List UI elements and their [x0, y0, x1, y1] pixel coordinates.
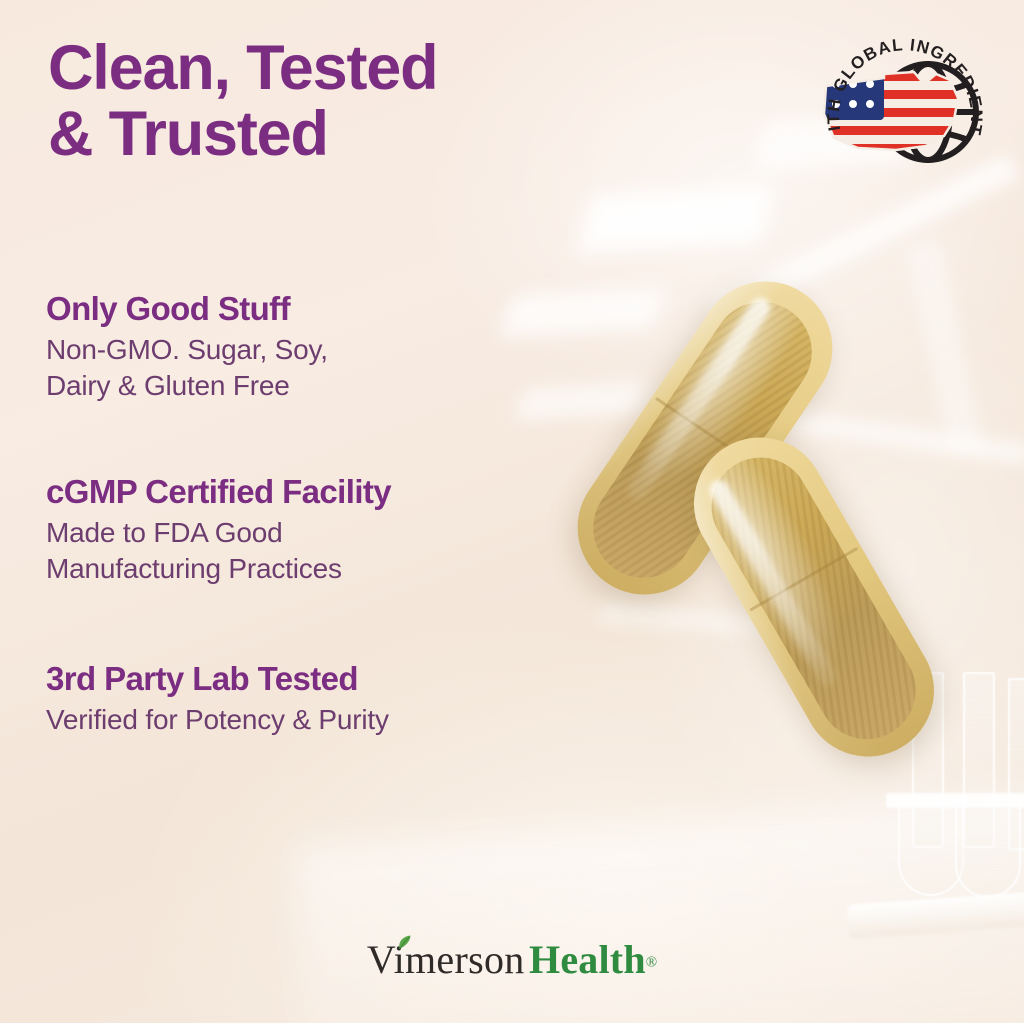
feature-description-line-2: Manufacturing Practices — [46, 551, 566, 587]
feature-description-line-1: Made to FDA Good — [46, 515, 566, 551]
feature-description-line-2: Dairy & Gluten Free — [46, 368, 566, 404]
brand-logo: Vimerson Health® — [0, 936, 1024, 983]
headline-line-2: & Trusted — [48, 102, 608, 168]
feature-title: Only Good Stuff — [46, 290, 566, 328]
with-global-ingredients-badge: WITH GLOBAL INGREDIENTS — [818, 28, 988, 200]
capsule-icon — [670, 413, 958, 780]
feature-block-only-good-stuff: Only Good Stuff Non-GMO. Sugar, Soy, Dai… — [46, 290, 566, 405]
logo-brand-first: Vimerson — [367, 937, 525, 982]
feature-title: cGMP Certified Facility — [46, 473, 566, 511]
erlenmeyer-flask-icon — [955, 802, 1021, 898]
feature-block-3rd-party-lab-tested: 3rd Party Lab Tested Verified for Potenc… — [46, 660, 566, 738]
logo-brand-second: Health — [529, 937, 646, 982]
feature-description-line-1: Verified for Potency & Purity — [46, 702, 566, 738]
registered-trademark-mark: ® — [646, 955, 657, 971]
product-capsules — [620, 255, 980, 785]
feature-block-cgmp-certified-facility: cGMP Certified Facility Made to FDA Good… — [46, 473, 566, 588]
logo-wordmark: Vimerson Health® — [367, 936, 657, 983]
page-title: Clean, Tested & Trusted — [48, 36, 608, 167]
feature-title: 3rd Party Lab Tested — [46, 660, 566, 698]
leaf-icon — [397, 935, 412, 952]
headline-line-1: Clean, Tested — [48, 36, 608, 102]
promo-image-canvas: Clean, Tested & Trusted Only Good Stuff … — [0, 0, 1024, 1023]
badge-svg: WITH GLOBAL INGREDIENTS — [818, 28, 988, 200]
ceiling-light-panel — [578, 185, 774, 252]
feature-description-line-1: Non-GMO. Sugar, Soy, — [46, 332, 566, 368]
